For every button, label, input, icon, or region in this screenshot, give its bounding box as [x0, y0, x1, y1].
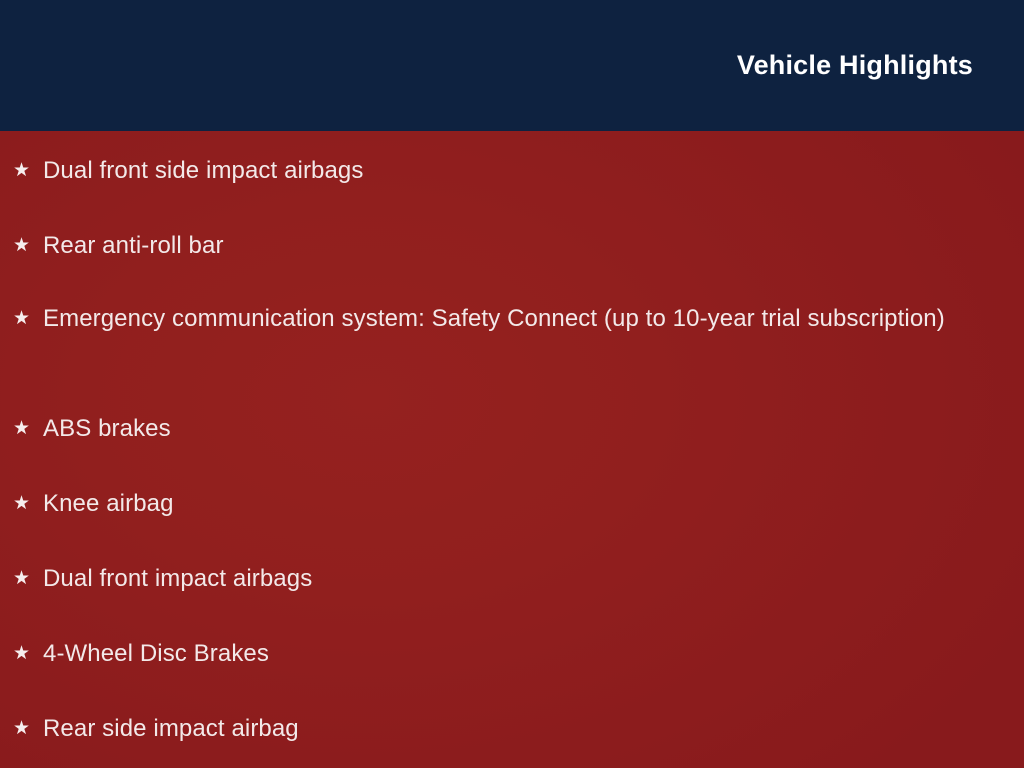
page-title: Vehicle Highlights [737, 52, 973, 79]
list-item: ★Emergency communication system: Safety … [0, 301, 1024, 336]
star-bullet-icon: ★ [13, 711, 43, 746]
list-item-label: 4-Wheel Disc Brakes [43, 636, 948, 671]
star-bullet-icon: ★ [13, 636, 43, 671]
list-item-label: Rear anti-roll bar [43, 228, 948, 263]
slide-header: Vehicle Highlights [0, 0, 1024, 131]
list-item-label: Rear side impact airbag [43, 711, 948, 746]
slide-body: ★Dual front side impact airbags★Rear ant… [0, 131, 1024, 768]
list-item-label: Knee airbag [43, 486, 948, 521]
star-bullet-icon: ★ [13, 301, 43, 336]
list-item: ★ABS brakes [0, 411, 1024, 446]
star-bullet-icon: ★ [13, 561, 43, 596]
star-bullet-icon: ★ [13, 486, 43, 521]
list-item-label: Dual front side impact airbags [43, 153, 948, 188]
list-item-label: Emergency communication system: Safety C… [43, 301, 948, 336]
list-item: ★Dual front impact airbags [0, 561, 1024, 596]
list-item: ★Knee airbag [0, 486, 1024, 521]
list-item: ★Rear side impact airbag [0, 711, 1024, 746]
star-bullet-icon: ★ [13, 411, 43, 446]
star-bullet-icon: ★ [13, 153, 43, 188]
list-item: ★Dual front side impact airbags [0, 153, 1024, 188]
list-item: ★4-Wheel Disc Brakes [0, 636, 1024, 671]
list-item-label: Dual front impact airbags [43, 561, 948, 596]
list-item-label: ABS brakes [43, 411, 948, 446]
star-bullet-icon: ★ [13, 228, 43, 263]
list-item: ★Rear anti-roll bar [0, 228, 1024, 263]
slide: Vehicle Highlights ★Dual front side impa… [0, 0, 1024, 768]
